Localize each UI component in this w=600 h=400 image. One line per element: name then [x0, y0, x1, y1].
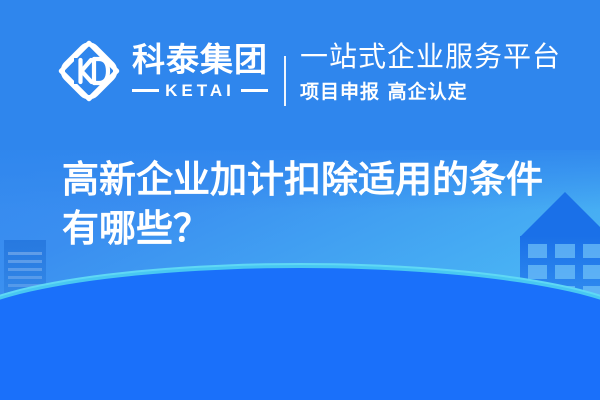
tagline-primary: 一站式企业服务平台 [300, 42, 561, 73]
ketai-diamond-kd-logo-icon [58, 40, 120, 102]
wordmark-dash-right [241, 89, 268, 92]
tagline-secondary: 项目申报 高企认定 [300, 82, 561, 103]
brand-name-english: KETAI [159, 82, 241, 99]
header-vertical-divider [284, 56, 286, 106]
promo-banner: 科泰集团 KETAI 一站式企业服务平台 项目申报 高企认定 高新企业加计扣除适… [0, 0, 600, 400]
brand-name-english-row: KETAI [132, 82, 268, 99]
brand-name-chinese: 科泰集团 [132, 43, 268, 76]
brand-logo-lockup[interactable]: 科泰集团 KETAI [58, 40, 268, 102]
page-title: 高新企业加计扣除适用的条件有哪些？ [62, 156, 562, 254]
tagline-block: 一站式企业服务平台 项目申报 高企认定 [300, 42, 561, 103]
curved-horizon-arc [0, 268, 600, 400]
banner-header: 科泰集团 KETAI 一站式企业服务平台 项目申报 高企认定 [0, 0, 600, 140]
brand-wordmark: 科泰集团 KETAI [132, 43, 268, 99]
wordmark-dash-left [132, 89, 159, 92]
